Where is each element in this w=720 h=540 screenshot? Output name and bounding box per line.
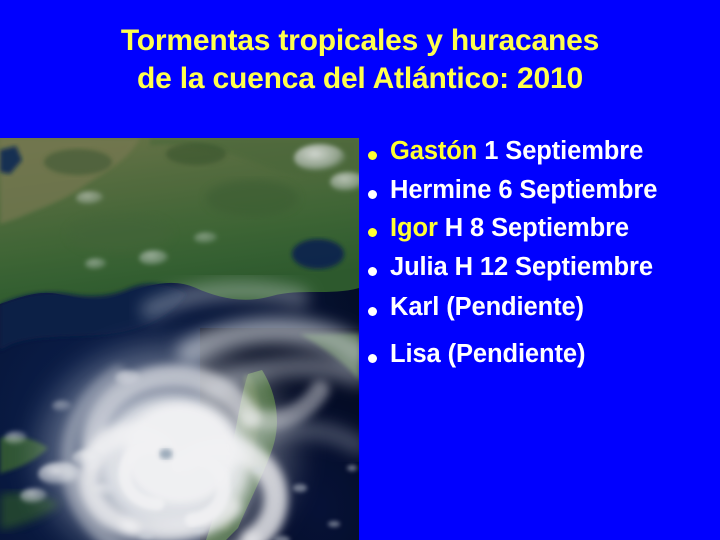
bullet-dot-icon — [368, 292, 390, 321]
bullet-dot-icon — [368, 175, 390, 204]
storm-detail: H 8 Septiembre — [438, 214, 629, 242]
storm-entry-hermine: Hermine 6 Septiembre — [390, 175, 716, 206]
list-item: Igor H 8 Septiembre — [368, 213, 716, 244]
storm-list: Gastón 1 Septiembre Hermine 6 Septiembre… — [368, 136, 716, 370]
storm-name: Gastón — [390, 137, 477, 165]
bullet-dot-icon — [368, 339, 390, 368]
storm-entry-lisa: Lisa (Pendiente) — [390, 339, 716, 370]
storm-entry-gaston: Gastón 1 Septiembre — [390, 136, 716, 167]
list-item: Gastón 1 Septiembre — [368, 136, 716, 167]
storm-entry-julia: Julia H 12 Septiembre — [390, 252, 716, 283]
storm-entry-igor: Igor H 8 Septiembre — [390, 213, 716, 244]
title-line-1: Tormentas tropicales y huracanes — [0, 22, 720, 60]
storm-detail: (Pendiente) — [439, 293, 584, 321]
list-item: Karl (Pendiente) — [368, 292, 716, 323]
list-item: Hermine 6 Septiembre — [368, 175, 716, 206]
list-item: Lisa (Pendiente) — [368, 339, 716, 370]
title-line-2: de la cuenca del Atlántico: 2010 — [0, 60, 720, 98]
storm-detail: H 12 Septiembre — [448, 253, 653, 281]
presentation-slide: Tormentas tropicales y huracanes de la c… — [0, 0, 720, 540]
storm-detail: 6 Septiembre — [491, 176, 657, 204]
bullet-dot-icon — [368, 213, 390, 242]
storm-name: Lisa — [390, 340, 441, 368]
storm-entry-karl: Karl (Pendiente) — [390, 292, 716, 323]
slide-title: Tormentas tropicales y huracanes de la c… — [0, 22, 720, 99]
storm-name: Karl — [390, 293, 439, 321]
storm-detail: (Pendiente) — [441, 340, 586, 368]
storm-name: Igor — [390, 214, 438, 242]
storm-name: Julia — [390, 253, 448, 281]
storm-detail: 1 Septiembre — [477, 137, 643, 165]
satellite-hurricane-image — [0, 138, 359, 540]
satellite-image-graphic — [0, 138, 359, 540]
bullet-dot-icon — [368, 136, 390, 165]
storm-name: Hermine — [390, 176, 491, 204]
list-item: Julia H 12 Septiembre — [368, 252, 716, 283]
bullet-dot-icon — [368, 252, 390, 281]
